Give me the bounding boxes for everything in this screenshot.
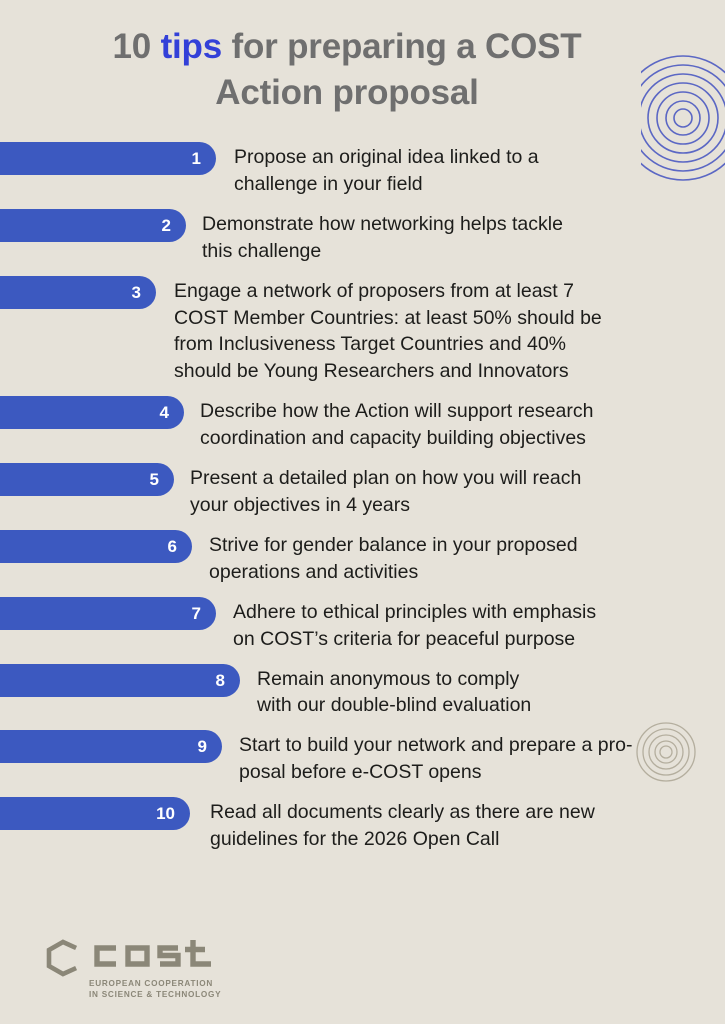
tip-item: 9Start to build your network and prepare…	[0, 730, 725, 786]
title-number: 10	[113, 27, 152, 66]
tip-item: 8Remain anonymous to comply with our dou…	[0, 664, 725, 720]
tip-number: 2	[162, 217, 171, 234]
tip-number: 3	[132, 284, 141, 301]
tip-number-bar: 1	[0, 142, 216, 175]
tip-number: 7	[192, 605, 201, 622]
page-title: 10 tips for preparing a COST Action prop…	[62, 24, 632, 115]
tip-number-bar: 7	[0, 597, 216, 630]
tip-number: 1	[192, 150, 201, 167]
tip-text: Engage a network of proposers from at le…	[174, 276, 674, 386]
tip-text: Strive for gender balance in your propos…	[209, 530, 679, 586]
tip-number: 6	[168, 538, 177, 555]
tip-text: Start to build your network and prepare …	[239, 730, 689, 786]
title-line2: Action proposal	[215, 73, 478, 112]
tip-number-bar: 10	[0, 797, 190, 830]
tip-text: Describe how the Action will support res…	[200, 396, 700, 452]
tip-text: Adhere to ethical principles with emphas…	[233, 597, 693, 653]
tip-number-bar: 5	[0, 463, 174, 496]
tip-item: 3Engage a network of proposers from at l…	[0, 276, 725, 386]
tips-list: 1Propose an original idea linked to a ch…	[0, 142, 725, 864]
open-hexagon-icon	[44, 939, 82, 982]
tip-item: 2Demonstrate how networking helps tackle…	[0, 209, 725, 265]
tip-item: 5Present a detailed plan on how you will…	[0, 463, 725, 519]
tip-number-bar: 8	[0, 664, 240, 697]
cost-wordmark	[89, 938, 221, 975]
tip-number-bar: 9	[0, 730, 222, 763]
tip-number: 5	[150, 471, 159, 488]
tip-text: Present a detailed plan on how you will …	[190, 463, 680, 519]
infographic-poster: 10 tips for preparing a COST Action prop…	[0, 0, 725, 1024]
tip-text: Remain anonymous to comply with our doub…	[257, 664, 657, 720]
tip-item: 7Adhere to ethical principles with empha…	[0, 597, 725, 653]
title-rest: for preparing a COST	[222, 27, 581, 66]
title-accent-word: tips	[151, 27, 222, 66]
tip-item: 1Propose an original idea linked to a ch…	[0, 142, 725, 198]
tip-number: 10	[156, 805, 175, 822]
cost-tagline: EUROPEAN COOPERATION IN SCIENCE & TECHNO…	[89, 978, 221, 1000]
tip-text: Demonstrate how networking helps tackle …	[202, 209, 672, 265]
tip-item: 10Read all documents clearly as there ar…	[0, 797, 725, 853]
tip-number: 8	[216, 672, 225, 689]
tip-number-bar: 2	[0, 209, 186, 242]
tip-number-bar: 6	[0, 530, 192, 563]
tip-number-bar: 4	[0, 396, 184, 429]
tip-number-bar: 3	[0, 276, 156, 309]
tip-text: Read all documents clearly as there are …	[210, 797, 670, 853]
tip-number: 4	[160, 404, 169, 421]
tip-item: 6Strive for gender balance in your propo…	[0, 530, 725, 586]
tip-item: 4Describe how the Action will support re…	[0, 396, 725, 452]
tip-number: 9	[198, 738, 207, 755]
tip-text: Propose an original idea linked to a cha…	[234, 142, 664, 198]
cost-logo: EUROPEAN COOPERATION IN SCIENCE & TECHNO…	[44, 938, 221, 1000]
